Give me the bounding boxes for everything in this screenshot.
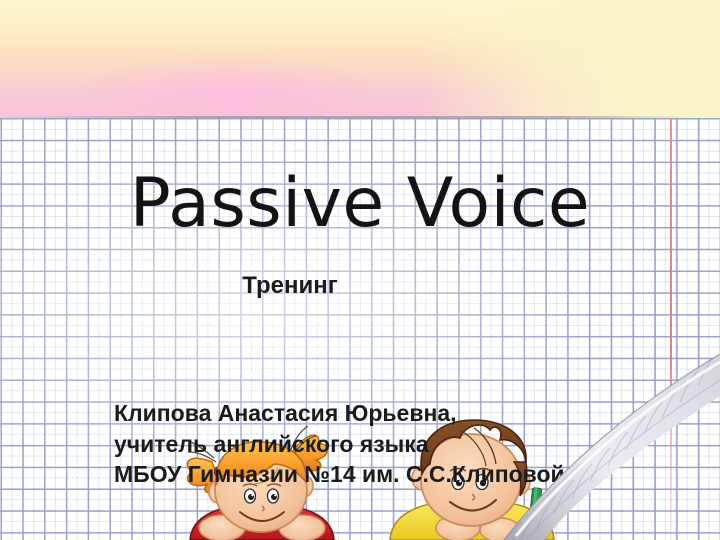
page-title: Passive Voice [0, 168, 720, 239]
header-pink-glow [80, 58, 380, 118]
author-credit-block: Клипова Анастасия Юрьевна, учитель англи… [114, 398, 634, 490]
header-banner [0, 0, 720, 118]
presentation-slide: Passive Voice Тренинг Клипова Анастасия … [0, 0, 720, 540]
header-bottom-edge-shadow [0, 116, 720, 118]
author-role-line: учитель английского языка [114, 429, 634, 460]
header-yellow-wash [420, 0, 720, 118]
page-subtitle: Тренинг [0, 272, 720, 300]
author-school-line: МБОУ Гимназии №14 им. С.С.Клиповой [114, 459, 634, 490]
author-name-line: Клипова Анастасия Юрьевна, [114, 398, 634, 429]
